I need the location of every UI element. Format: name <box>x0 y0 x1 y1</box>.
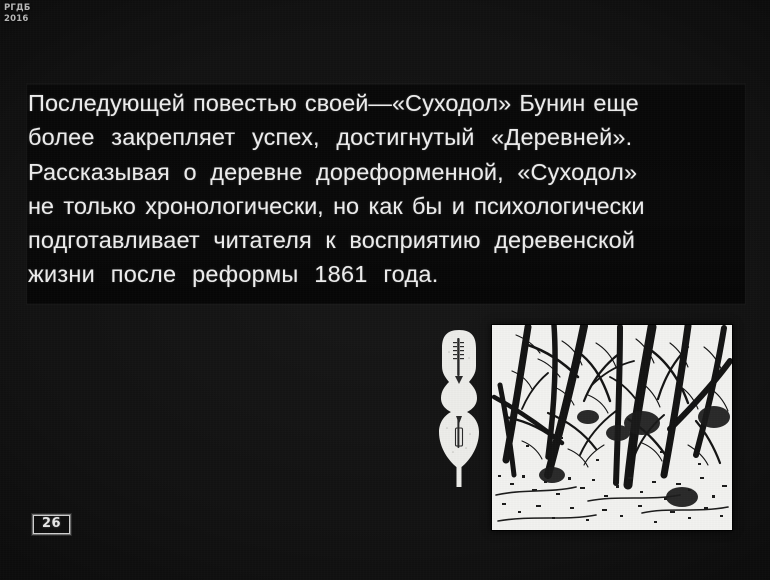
caption-text-block: Последующей повестью своей—«Суходол» Бун… <box>28 86 744 292</box>
caption-line: более закрепляет успех, достигнутый «Дер… <box>28 120 744 154</box>
caption-line: Последующей повестью своей—«Суходол» Бун… <box>28 86 744 120</box>
watermark-year: 2016 <box>4 14 31 25</box>
bare-winter-trees-photograph <box>492 325 732 530</box>
caption-line: Рассказывая о деревне дореформенной, «Су… <box>28 155 744 189</box>
caption-line: подготавливает читателя к восприятию дер… <box>28 223 744 257</box>
filmstrip-slide: РГДБ 2016 Последующей повестью своей—«Су… <box>0 0 770 580</box>
frame-number-badge: 26 <box>33 515 70 534</box>
caption-line: жизни после реформы 1861 года. <box>28 257 744 291</box>
archive-watermark: РГДБ 2016 <box>4 3 31 25</box>
watermark-organization: РГДБ <box>4 3 31 14</box>
caption-line: не только хронологически, но как бы и пс… <box>28 189 744 223</box>
urn-vignette-ornament <box>429 328 489 488</box>
